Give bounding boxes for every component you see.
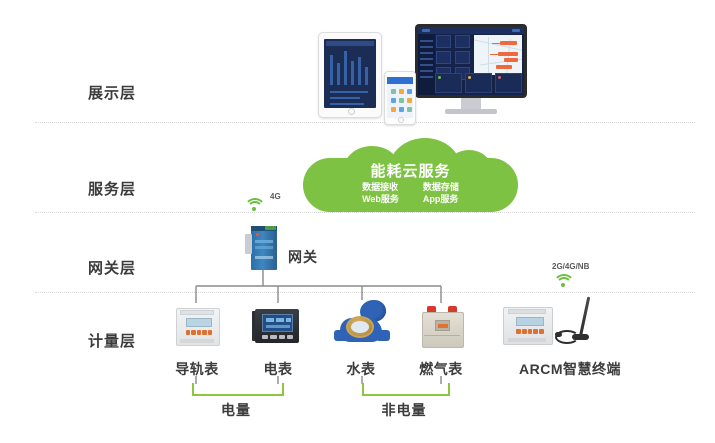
dashboard-sidebar-item [420, 58, 433, 60]
device-label-electric-meter: 电表 [249, 359, 307, 379]
cloud-service-item: 数据接收 [362, 181, 399, 193]
gas-meter-seam [424, 335, 460, 336]
dashboard-stat-card [436, 51, 451, 64]
wifi-dot [252, 207, 256, 211]
group-bracket-electric [192, 383, 284, 396]
water-meter-dial-face [351, 321, 369, 333]
tablet-chart-bar [365, 67, 368, 85]
phone-app-tile [399, 89, 404, 94]
antenna-rod [579, 297, 590, 337]
dashboard-sidebar-item [420, 70, 433, 72]
tablet-chart-bar [344, 51, 347, 85]
tablet-topbar [326, 41, 374, 46]
cloud-service-column-left: 数据接收 Web服务 [362, 181, 399, 205]
presentation-devices-group [305, 8, 535, 120]
phone-app-tile [399, 98, 404, 103]
device-label-gas-meter: 燃气表 [410, 359, 472, 379]
din-meter-terminal-block [180, 339, 214, 343]
dashboard-stat-cards [435, 35, 472, 73]
antenna-icon [555, 296, 591, 348]
phone-app-tile [407, 89, 412, 94]
map-annotation-tag [504, 58, 518, 62]
dashboard-sidebar-item [420, 52, 433, 54]
arcm-display [516, 317, 544, 326]
tablet-device [318, 32, 382, 118]
diagram-canvas: 展示层 服务层 网关层 计量层 [0, 0, 715, 443]
device-label-din-rail-meter: 导轨表 [166, 359, 228, 379]
electric-meter-buttons [262, 335, 293, 339]
dashboard-sidebar-item [420, 46, 433, 48]
phone-app-tile [391, 98, 396, 103]
layer-label-presentation: 展示层 [88, 82, 178, 103]
cloud-service-node: 能耗云服务 数据接收 Web服务 数据存储 App服务 [303, 144, 518, 216]
dashboard-map-panel [474, 35, 522, 75]
dashboard-bottom-panel [465, 73, 492, 93]
monitor-screen [418, 27, 524, 95]
cloud-title: 能耗云服务 [303, 160, 518, 181]
device-label-arcm-terminal: ARCM智慧终端 [505, 359, 635, 379]
map-annotation-tag [500, 41, 517, 45]
tablet-text-row [330, 91, 368, 93]
dashboard-stat-card [455, 51, 470, 64]
din-meter-buttons [186, 330, 212, 335]
gateway-label: 网关 [288, 247, 318, 267]
tablet-text-row [330, 97, 360, 99]
din-rail-meter-device [172, 306, 222, 348]
tablet-screen [324, 39, 376, 108]
phone-app-tile [407, 107, 412, 112]
monitor-stand-base [445, 109, 497, 114]
din-meter-display [186, 318, 212, 327]
dashboard-bottom-panels [435, 73, 522, 93]
monitor-stand-neck [461, 98, 481, 109]
cloud-service-list: 数据接收 Web服务 数据存储 App服务 [303, 181, 518, 205]
tablet-chart-bar [337, 63, 340, 85]
tablet-chart-bar [358, 57, 361, 85]
gateway-terminal-block [265, 226, 276, 230]
cloud-service-item: App服务 [423, 193, 459, 205]
wifi-signal-icon [552, 272, 574, 288]
gateway-port-bracket [245, 234, 252, 254]
dashboard-bottom-panel [495, 73, 522, 93]
layer-label-metering: 计量层 [88, 330, 178, 351]
map-annotation-leader [490, 54, 498, 55]
gas-meter-device [418, 306, 466, 350]
gateway-power-led [256, 233, 259, 236]
phone-appbar [387, 77, 413, 84]
cloud-service-column-right: 数据存储 App服务 [423, 181, 459, 205]
dashboard-stat-card [436, 35, 451, 48]
tablet-home-button [348, 108, 355, 115]
phone-app-tile [391, 107, 396, 112]
dashboard-sidebar-item [420, 76, 433, 78]
gateway-device [245, 226, 281, 270]
gas-meter-index-panel [435, 320, 450, 331]
dashboard-user-chip [512, 29, 520, 32]
din-meter-label-strip [180, 310, 214, 315]
tablet-chart-bar [330, 55, 333, 85]
gateway-label-strip [255, 246, 273, 249]
phone-home-button [398, 117, 404, 123]
tablet-chart-bar [351, 61, 354, 85]
phone-app-tile [399, 107, 404, 112]
panel-status-dot [498, 76, 501, 79]
group-bracket-non-electric [362, 383, 450, 396]
arcm-network-label: 2G/4G/NB [552, 262, 589, 271]
electric-meter-display [262, 314, 293, 332]
map-annotation-leader [492, 43, 500, 44]
tablet-text-row [330, 103, 364, 105]
dashboard-topbar [418, 27, 524, 34]
wifi-dot [561, 283, 565, 287]
gateway-network-label: 4G [270, 192, 281, 201]
map-annotation-tag [496, 65, 512, 69]
antenna-connector [555, 332, 562, 337]
arcm-buttons [516, 329, 544, 334]
desktop-monitor-device [415, 24, 527, 120]
electric-meter-device [252, 307, 302, 347]
smartphone-device [384, 71, 416, 125]
layer-divider-gateway-metering [35, 292, 695, 293]
monitor-bezel [415, 24, 527, 98]
layer-label-gateway: 网关层 [88, 257, 178, 278]
dashboard-stat-card [455, 35, 470, 48]
layer-label-service: 服务层 [88, 178, 178, 199]
map-road [488, 37, 489, 73]
phone-app-tile [407, 98, 412, 103]
arcm-label-strip [508, 309, 546, 314]
dashboard-logo [422, 29, 430, 32]
water-meter-device [334, 300, 390, 350]
gateway-label-strip [255, 240, 273, 243]
dashboard-sidebar [418, 34, 435, 95]
arcm-terminal-block [508, 338, 546, 342]
cloud-service-item: 数据存储 [423, 181, 459, 193]
gateway-label-strip [255, 256, 273, 259]
map-annotation-tag [498, 52, 518, 56]
phone-screen [387, 77, 413, 118]
cloud-service-item: Web服务 [362, 193, 399, 205]
panel-status-dot [438, 76, 441, 79]
device-label-water-meter: 水表 [332, 359, 390, 379]
panel-status-dot [468, 76, 471, 79]
group-label-non-electric: 非电量 [362, 400, 446, 420]
layer-divider-presentation-service [35, 122, 695, 123]
dashboard-bottom-panel [435, 73, 462, 93]
arcm-terminal-device [500, 305, 560, 349]
dashboard-sidebar-item [420, 40, 433, 42]
wifi-signal-icon [243, 196, 265, 212]
dashboard-sidebar-item [420, 64, 433, 66]
phone-app-tile [391, 89, 396, 94]
group-label-electric: 电量 [192, 400, 280, 420]
